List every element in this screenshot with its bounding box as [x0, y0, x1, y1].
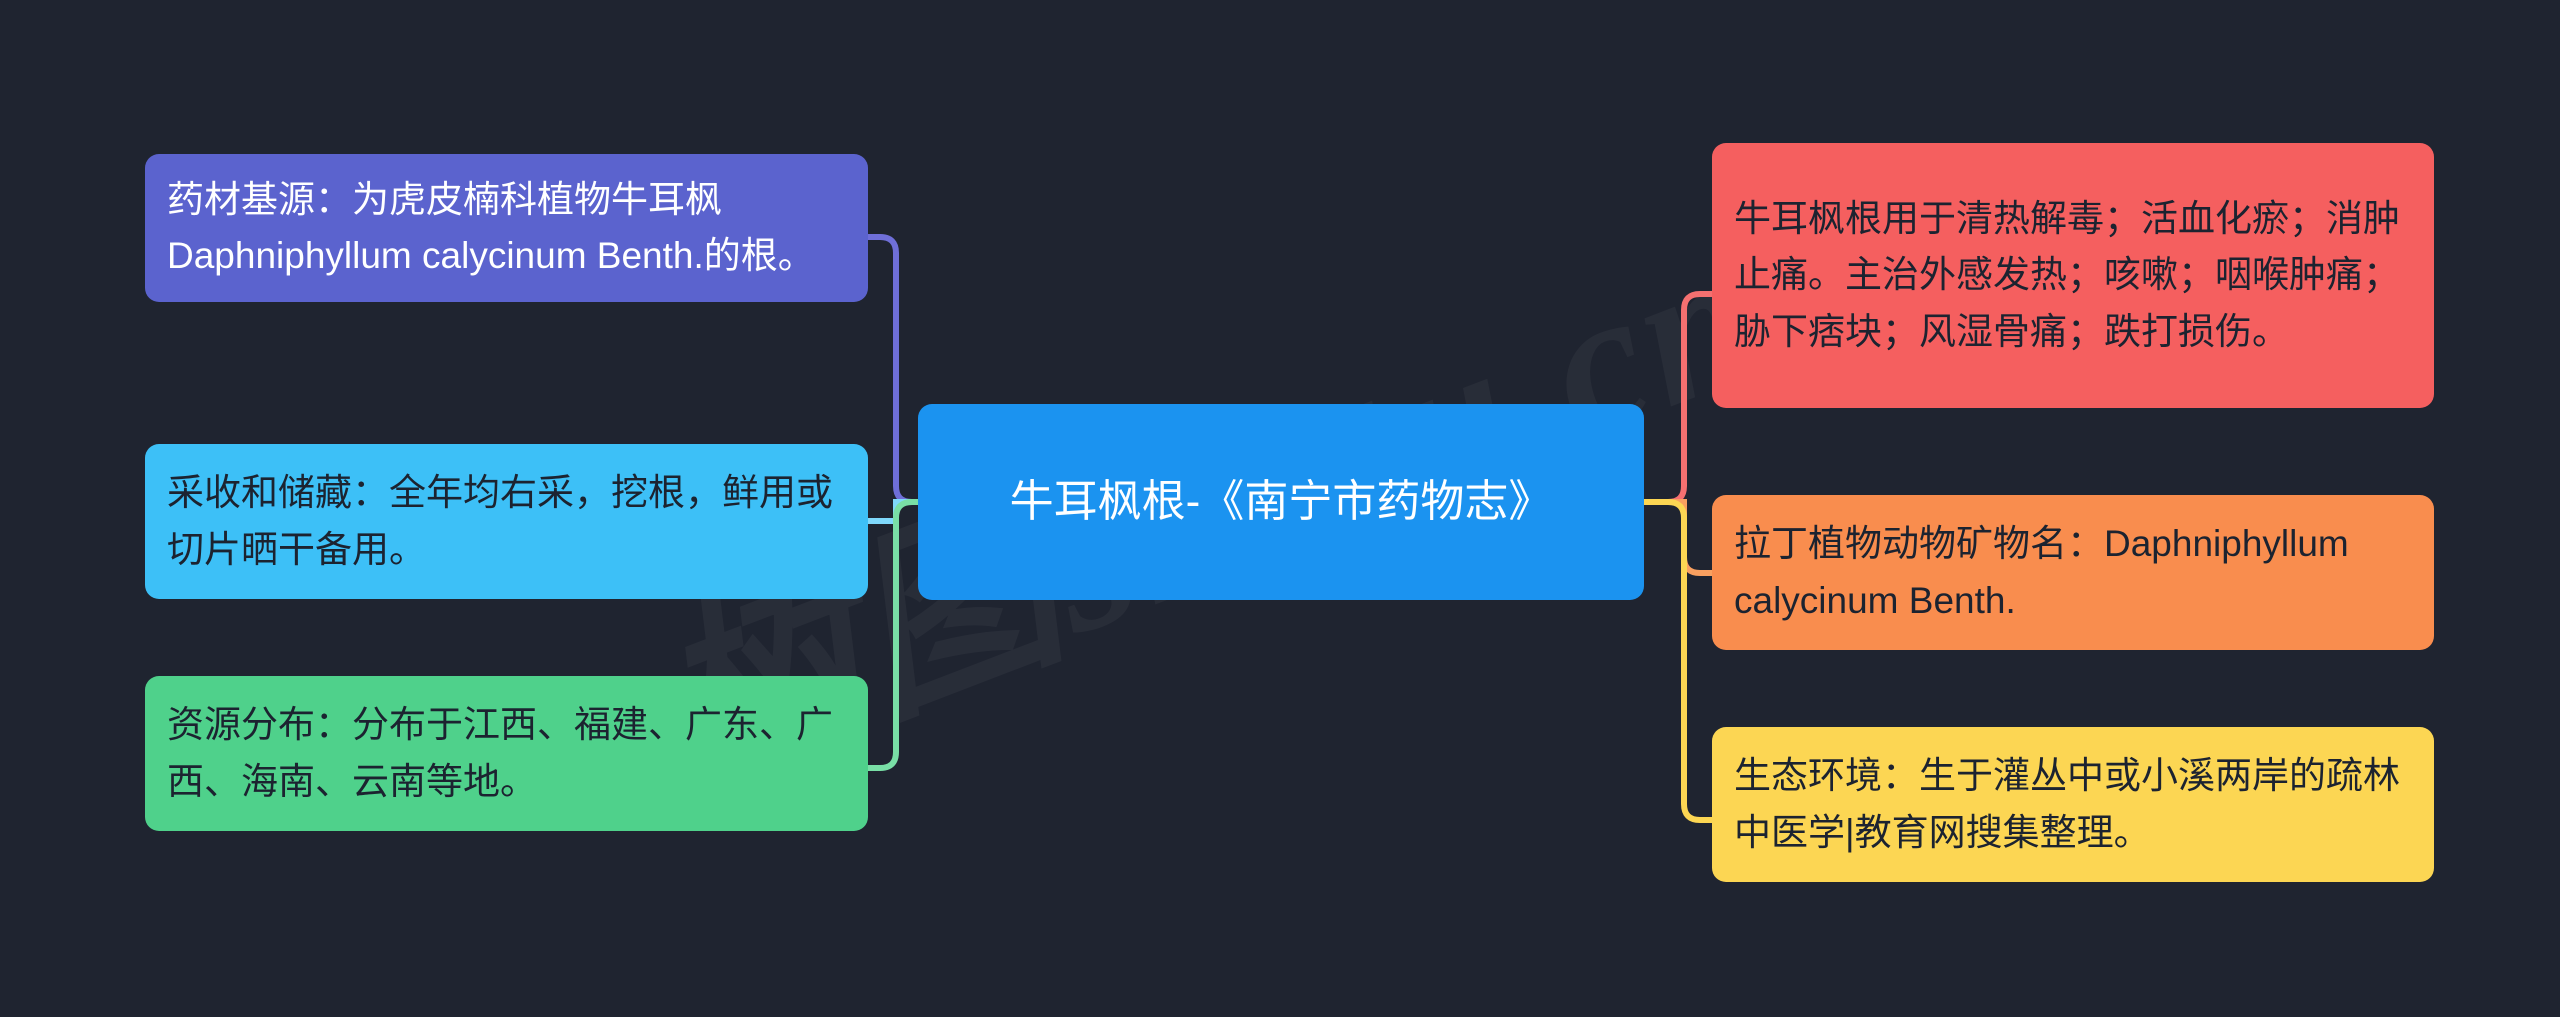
edge-source	[868, 237, 918, 502]
edge-distribution	[868, 502, 918, 768]
node-latin-name[interactable]: 拉丁植物动物矿物名：Daphniphyllum calycinum Benth.	[1712, 495, 2434, 650]
node-source-label: 药材基源：为虎皮楠科植物牛耳枫Daphniphyllum calycinum B…	[167, 172, 846, 284]
node-harvest[interactable]: 采收和储藏：全年均右采，挖根，鲜用或切片晒干备用。	[145, 444, 868, 599]
node-distribution[interactable]: 资源分布：分布于江西、福建、广东、广西、海南、云南等地。	[145, 676, 868, 831]
node-root-center[interactable]: 牛耳枫根-《南宁市药物志》	[918, 404, 1644, 600]
edge-harvest	[868, 502, 918, 521]
edge-latin	[1644, 502, 1712, 573]
edge-indications	[1644, 294, 1712, 502]
node-root-label: 牛耳枫根-《南宁市药物志》	[940, 469, 1622, 536]
node-indications[interactable]: 牛耳枫根用于清热解毒；活血化瘀；消肿止痛。主治外感发热；咳嗽；咽喉肿痛；胁下痞块…	[1712, 143, 2434, 408]
node-indications-label: 牛耳枫根用于清热解毒；活血化瘀；消肿止痛。主治外感发热；咳嗽；咽喉肿痛；胁下痞块…	[1734, 191, 2412, 360]
node-source[interactable]: 药材基源：为虎皮楠科植物牛耳枫Daphniphyllum calycinum B…	[145, 154, 868, 302]
edge-habitat	[1644, 502, 1712, 820]
node-distribution-label: 资源分布：分布于江西、福建、广东、广西、海南、云南等地。	[167, 697, 846, 809]
node-latin-name-label: 拉丁植物动物矿物名：Daphniphyllum calycinum Benth.	[1734, 516, 2412, 628]
node-habitat[interactable]: 生态环境：生于灌丛中或小溪两岸的疏林中医学|教育网搜集整理。	[1712, 727, 2434, 882]
node-harvest-label: 采收和储藏：全年均右采，挖根，鲜用或切片晒干备用。	[167, 465, 846, 577]
node-habitat-label: 生态环境：生于灌丛中或小溪两岸的疏林中医学|教育网搜集整理。	[1734, 748, 2412, 860]
mindmap-canvas: 树图shutu.cn 药材基源：为虎皮楠科植物牛耳枫Daphniphyllum …	[0, 0, 2560, 1017]
